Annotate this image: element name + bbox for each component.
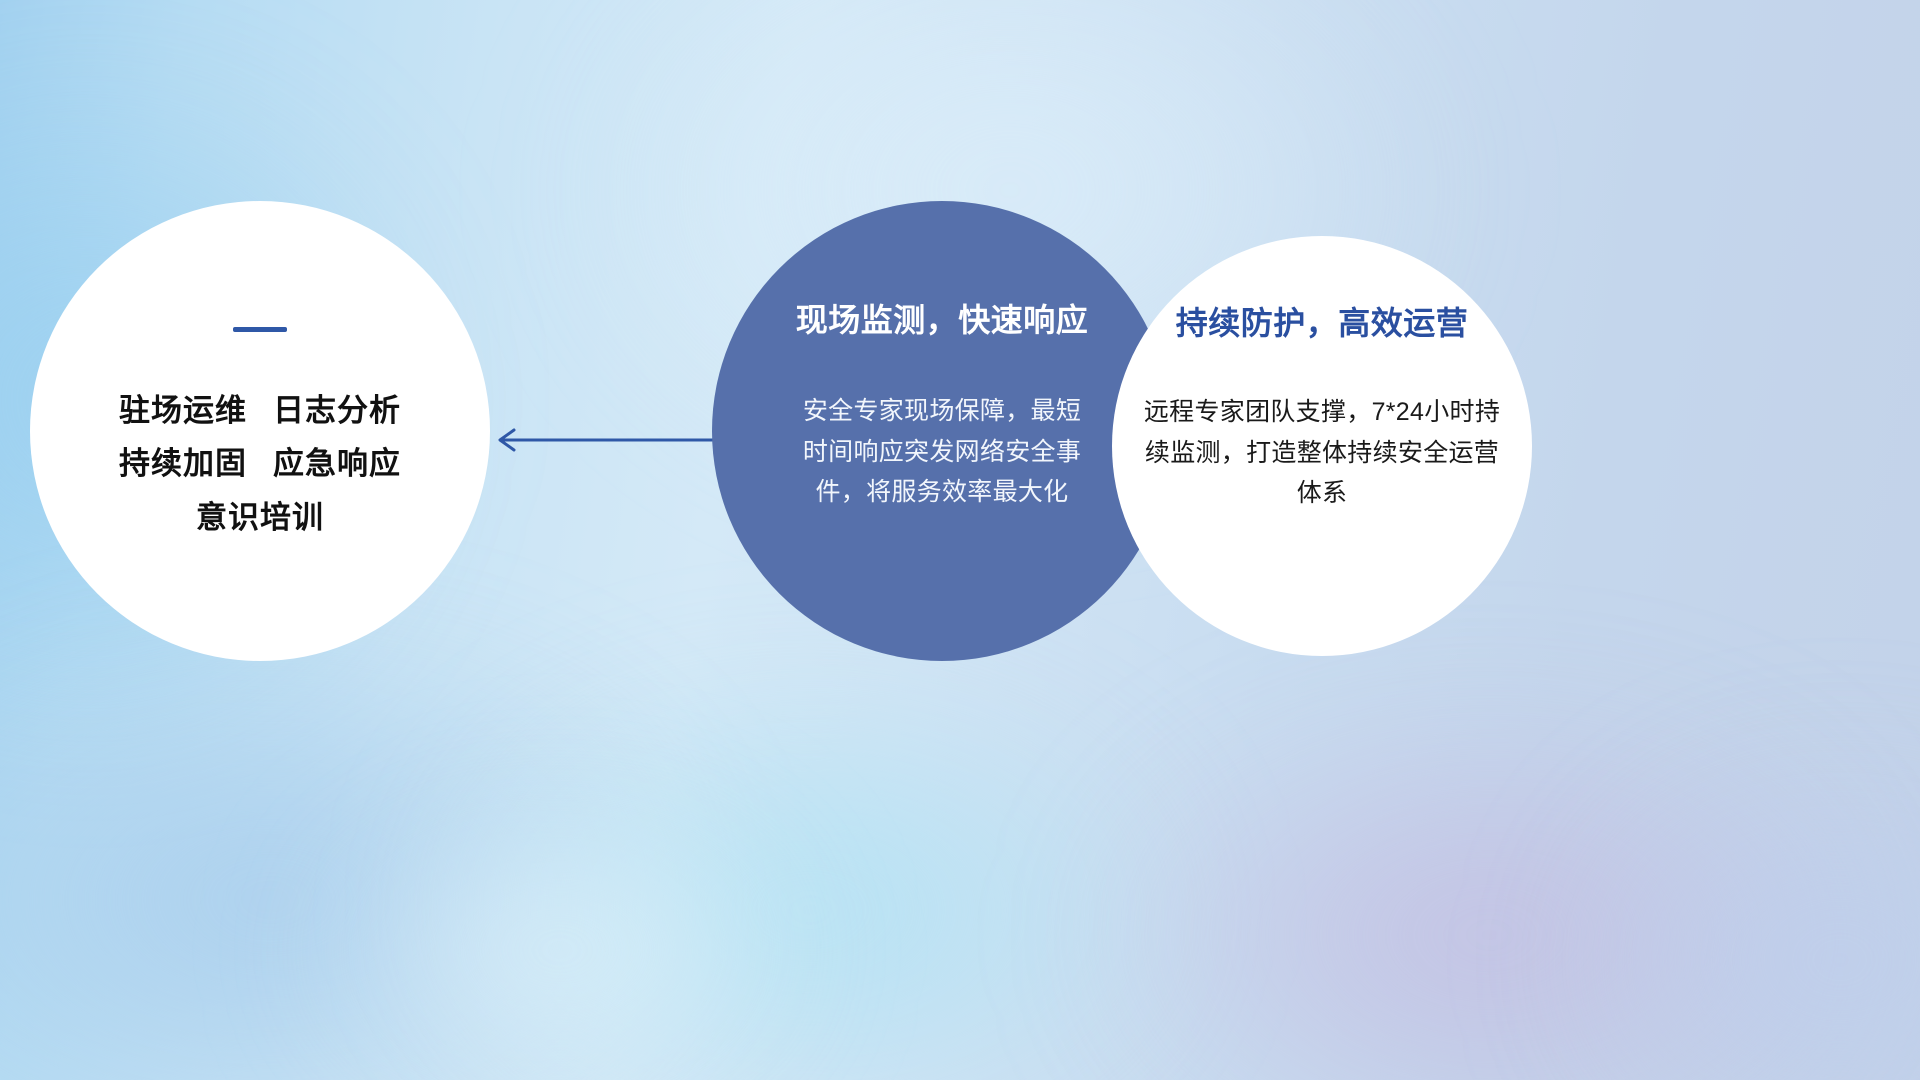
left-circle-content: 驻场运维日志分析 持续加固应急响应 意识培训	[30, 201, 490, 661]
keyword-item: 驻场运维	[119, 393, 247, 428]
keyword-row: 驻场运维日志分析	[30, 384, 490, 437]
keyword-row: 持续加固应急响应	[30, 437, 490, 490]
keyword-item: 意识培训	[196, 500, 324, 535]
right-circle-body: 远程专家团队支撑，7*24小时持续监测，打造整体持续安全运营体系	[1136, 392, 1508, 514]
keyword-list: 驻场运维日志分析 持续加固应急响应 意识培训	[30, 384, 490, 544]
keyword-item: 持续加固	[119, 446, 247, 481]
keyword-item: 日志分析	[273, 393, 401, 428]
horizontal-dash-divider-icon	[233, 327, 287, 332]
right-circle-title: 持续防护，高效运营	[1176, 298, 1469, 344]
keyword-row: 意识培训	[30, 491, 490, 544]
keyword-item: 应急响应	[273, 446, 401, 481]
left-pointing-arrow	[486, 418, 746, 462]
continuous-protection-circle: 持续防护，高效运营 远程专家团队支撑，7*24小时持续监测，打造整体持续安全运营…	[1112, 236, 1532, 656]
onsite-monitoring-circle: 现场监测，快速响应 安全专家现场保障，最短时间响应突发网络安全事件，将服务效率最…	[712, 201, 1172, 661]
middle-circle-content: 现场监测，快速响应 安全专家现场保障，最短时间响应突发网络安全事件，将服务效率最…	[712, 201, 1172, 661]
background-glow-bottom-center	[300, 800, 820, 1080]
middle-circle-body: 安全专家现场保障，最短时间响应突发网络安全事件，将服务效率最大化	[792, 391, 1092, 513]
slide-canvas: 驻场运维日志分析 持续加固应急响应 意识培训 现场监测，快速响应 安全专家现场保…	[0, 0, 1920, 1080]
driven-operations-circle: 驻场运维日志分析 持续加固应急响应 意识培训	[30, 201, 490, 661]
right-circle-content: 持续防护，高效运营 远程专家团队支撑，7*24小时持续监测，打造整体持续安全运营…	[1112, 236, 1532, 656]
middle-circle-title: 现场监测，快速响应	[796, 295, 1089, 341]
